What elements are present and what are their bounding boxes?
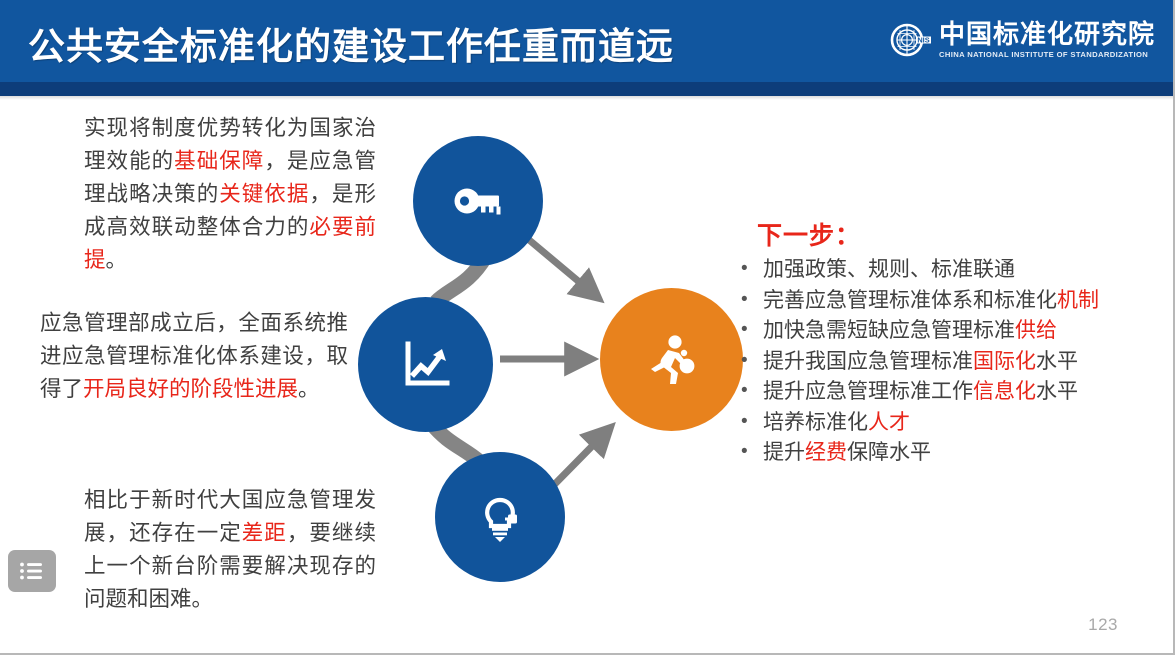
plain-text: 加强政策、规则、标准联通: [763, 258, 1015, 281]
plain-text: 水平: [1036, 350, 1078, 373]
plain-text: 。: [298, 377, 320, 401]
plain-text: 。: [106, 248, 128, 272]
list-item: 提升我国应急管理标准国际化水平: [735, 347, 1165, 378]
bulleted-list-icon[interactable]: [8, 550, 56, 592]
running-person-icon: [638, 326, 706, 394]
cnis-globe-logo-icon: NIS: [888, 18, 932, 62]
logo-text: 中国标准化研究院 CHINA NATIONAL INSTITUTE OF STA…: [939, 21, 1155, 59]
logo-chinese-name: 中国标准化研究院: [939, 21, 1155, 47]
next-steps-list: 加强政策、规则、标准联通完善应急管理标准体系和标准化机制加快急需短缺应急管理标准…: [735, 255, 1165, 469]
text-block-remaining-gap: 相比于新时代大国应急管理发展，还存在一定差距，要继续上一个新台阶需要解决现存的问…: [84, 484, 376, 616]
list-item: 加强政策、规则、标准联通: [735, 255, 1165, 286]
list-item: 完善应急管理标准体系和标准化机制: [735, 286, 1165, 317]
highlighted-text: 开局良好的阶段性进展: [83, 377, 298, 401]
list-item: 培养标准化人才: [735, 408, 1165, 439]
highlighted-text: 信息化: [973, 380, 1036, 403]
highlighted-text: 国际化: [973, 350, 1036, 373]
list-item: 提升经费保障水平: [735, 438, 1165, 469]
plain-text: 保障水平: [847, 441, 931, 464]
header-underline: [0, 82, 1175, 96]
list-item: 提升应急管理标准工作信息化水平: [735, 377, 1165, 408]
plain-text: 加快急需短缺应急管理标准: [763, 319, 1015, 342]
highlighted-text: 供给: [1015, 319, 1057, 342]
plain-text: 提升应急管理标准工作: [763, 380, 973, 403]
diagram-node-progress[interactable]: [358, 297, 493, 432]
highlighted-text: 人才: [868, 411, 910, 434]
diagram-node-goal[interactable]: [600, 288, 743, 431]
lightbulb-plug-icon: [469, 486, 531, 548]
diagram-node-key[interactable]: [413, 136, 543, 266]
plain-text: 提升: [763, 441, 805, 464]
highlighted-text: 基础保障: [174, 149, 264, 173]
next-steps-heading: 下一步：: [757, 216, 861, 252]
key-icon: [447, 170, 509, 232]
text-block-emergency-ministry-progress: 应急管理部成立后，全面系统推进应急管理标准化体系建设，取得了开局良好的阶段性进展…: [40, 307, 348, 406]
highlighted-text: 经费: [805, 441, 847, 464]
plain-text: 提升我国应急管理标准: [763, 350, 973, 373]
svg-text:NIS: NIS: [917, 36, 929, 45]
organization-logo: NIS 中国标准化研究院 CHINA NATIONAL INSTITUTE OF…: [888, 18, 1155, 62]
highlighted-text: 机制: [1057, 289, 1099, 312]
page-title: 公共安全标准化的建设工作任重而道远: [28, 16, 674, 70]
plain-text: 水平: [1036, 380, 1078, 403]
highlighted-text: 关键依据: [219, 182, 309, 206]
plain-text: 培养标准化: [763, 411, 868, 434]
plain-text: 完善应急管理标准体系和标准化: [763, 289, 1057, 312]
highlighted-text: 差距: [242, 521, 287, 545]
process-diagram: [340, 100, 760, 620]
text-block-institutional-advantage: 实现将制度优势转化为国家治理效能的基础保障，是应急管理战略决策的关键依据，是形成…: [84, 112, 376, 277]
logo-english-name: CHINA NATIONAL INSTITUTE OF STANDARDIZAT…: [939, 51, 1148, 59]
diagram-node-innovation[interactable]: [435, 452, 565, 582]
list-item: 加快急需短缺应急管理标准供给: [735, 316, 1165, 347]
presentation-slide: 公共安全标准化的建设工作任重而道远 NIS 中国标准化研究院 CHINA NAT…: [0, 0, 1175, 655]
line-chart-up-icon: [395, 334, 457, 396]
page-number: 123: [1088, 615, 1118, 635]
